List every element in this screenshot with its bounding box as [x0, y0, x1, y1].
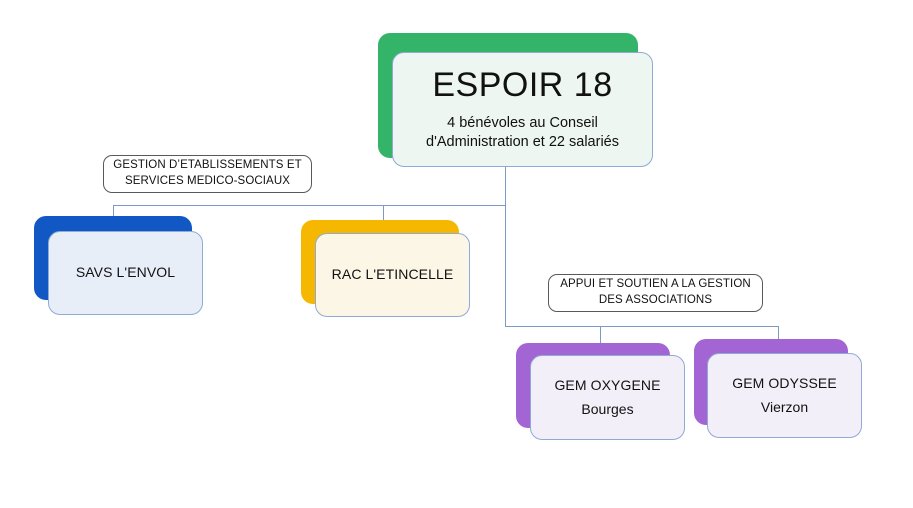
connector-drop-gem-odyssee	[778, 326, 779, 340]
node-gem-odyssee[interactable]: GEM ODYSSEE Vierzon	[707, 353, 862, 438]
connector-left-bus	[113, 205, 506, 206]
label-text: GESTION D’ETABLISSEMENTS ET SERVICES MED…	[113, 158, 301, 189]
node-espoir-18[interactable]: ESPOIR 18 4 bénévoles au Conseil d'Admin…	[392, 52, 653, 167]
node-savs-lenvol[interactable]: SAVS L'ENVOL	[48, 231, 203, 315]
node-title: SAVS L'ENVOL	[76, 264, 175, 282]
org-chart-diagram: ESPOIR 18 4 bénévoles au Conseil d'Admin…	[0, 0, 913, 508]
node-title: RAC L'ETINCELLE	[332, 266, 454, 284]
label-gestion-etablissements: GESTION D’ETABLISSEMENTS ET SERVICES MED…	[103, 155, 312, 193]
node-rac-letincelle[interactable]: RAC L'ETINCELLE	[315, 233, 470, 317]
node-title: GEM OXYGENE	[554, 377, 660, 395]
connector-bottom-bus	[505, 326, 779, 327]
node-title: GEM ODYSSEE	[732, 375, 837, 393]
connector-root-trunk	[505, 167, 506, 327]
label-appui-soutien: APPUI ET SOUTIEN A LA GESTION DES ASSOCI…	[548, 274, 763, 312]
node-subtitle: Vierzon	[761, 399, 808, 417]
node-gem-oxygene[interactable]: GEM OXYGENE Bourges	[530, 355, 685, 440]
label-text: APPUI ET SOUTIEN A LA GESTION DES ASSOCI…	[560, 277, 751, 308]
connector-drop-rac	[383, 205, 384, 221]
node-title: ESPOIR 18	[432, 67, 612, 104]
node-subtitle: Bourges	[581, 401, 633, 419]
connector-drop-gem-oxygene	[600, 326, 601, 344]
node-subtitle: 4 bénévoles au Conseil d'Administration …	[426, 114, 619, 152]
